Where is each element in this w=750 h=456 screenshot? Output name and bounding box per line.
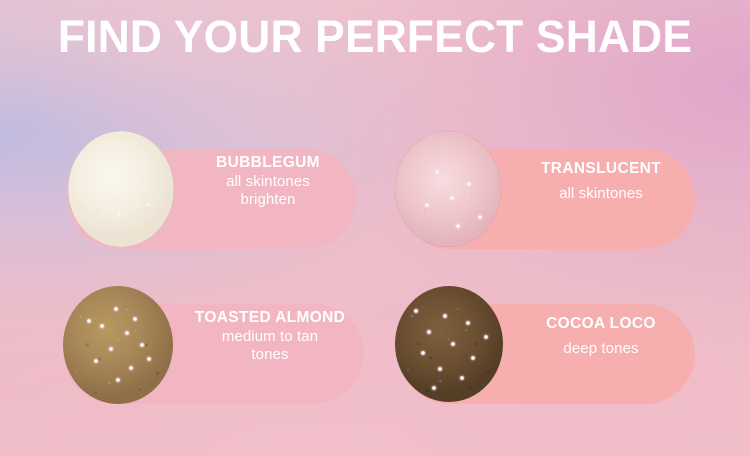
shade-description-line-1: all skintones — [226, 173, 310, 190]
shade-card-bubblegum[interactable]: BUBBLEGUM all skintones brighten — [20, 131, 360, 267]
shade-description-line-2: tones — [251, 346, 288, 363]
shade-finder-banner: FIND YOUR PERFECT SHADE BUBBLEGUM all sk… — [0, 0, 750, 456]
shade-text-block: TRANSLUCENT all skintones — [510, 131, 692, 231]
translucent-powder-swatch — [395, 131, 501, 247]
shade-text-block: BUBBLEGUM all skintones brighten — [180, 131, 356, 231]
toasted-almond-powder-swatch — [63, 286, 173, 404]
page-title: FIND YOUR PERFECT SHADE — [6, 14, 745, 59]
shade-name: COCOA LOCO — [546, 315, 656, 333]
shade-text-block: TOASTED ALMOND medium to tan tones — [172, 286, 368, 386]
shade-name: TRANSLUCENT — [541, 160, 661, 178]
glitter-specks — [63, 286, 173, 404]
shade-name: BUBBLEGUM — [216, 154, 320, 172]
bubblegum-powder-swatch — [68, 131, 174, 247]
shade-card-cocoa-loco[interactable]: COCOA LOCO deep tones — [352, 286, 695, 422]
glitter-specks — [395, 131, 501, 247]
shade-card-toasted-almond[interactable]: TOASTED ALMOND medium to tan tones — [20, 286, 368, 422]
shade-text-block: COCOA LOCO deep tones — [510, 286, 692, 386]
shade-description-line-1: all skintones — [559, 185, 643, 202]
glitter-specks — [395, 286, 503, 402]
shade-card-translucent[interactable]: TRANSLUCENT all skintones — [352, 131, 695, 267]
cocoa-loco-powder-swatch — [395, 286, 503, 402]
shade-description-line-1: deep tones — [563, 340, 638, 357]
shade-description-line-2: brighten — [240, 191, 295, 208]
shade-name: TOASTED ALMOND — [195, 309, 345, 327]
glitter-specks — [68, 131, 174, 247]
shade-description-line-1: medium to tan — [222, 328, 318, 345]
